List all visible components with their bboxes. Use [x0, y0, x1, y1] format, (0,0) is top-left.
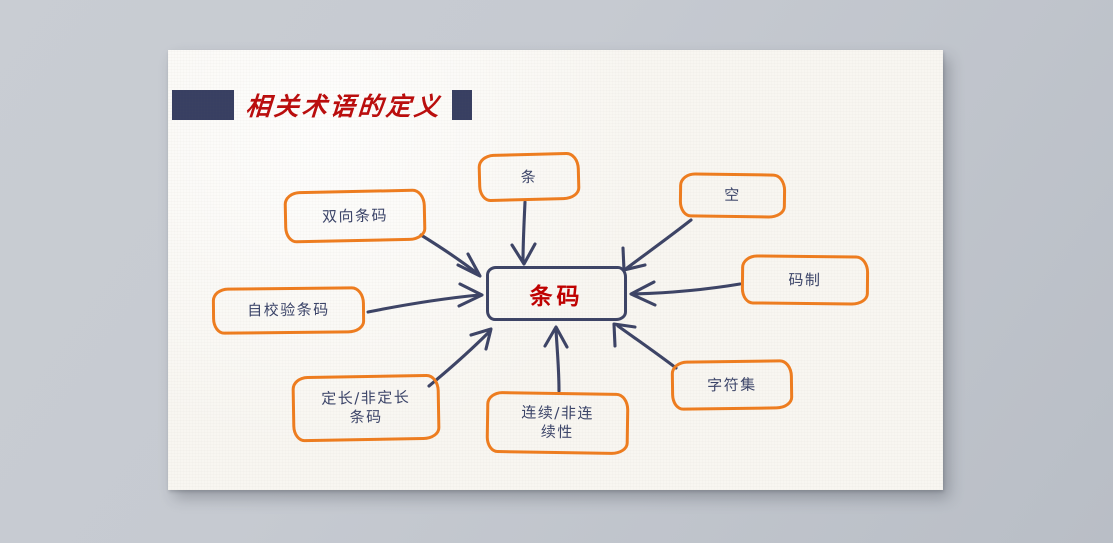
node-label: 空 [724, 186, 741, 205]
arrow-from-space [623, 220, 691, 270]
node-label: 双向条码 [322, 206, 388, 226]
mindmap-node-continuity[interactable]: 连续/非连 续性 [486, 391, 630, 455]
arrow-from-bar [512, 202, 535, 264]
mindmap-node-length[interactable]: 定长/非定长 条码 [291, 374, 440, 443]
node-label: 定长/非定长 条码 [321, 388, 411, 427]
node-label: 字符集 [707, 375, 757, 394]
mindmap-center-node[interactable]: 条码 [486, 266, 627, 321]
arrow-from-continuity [545, 327, 567, 391]
screenshot-stage: 相关术语的定义 [0, 0, 1113, 543]
node-label: 码制 [788, 270, 821, 289]
mindmap-node-charset[interactable]: 字符集 [671, 359, 794, 411]
arrow-from-bidirectional [421, 235, 480, 276]
arrow-from-selfcheck [368, 284, 482, 312]
center-node-label: 条码 [530, 277, 584, 311]
mindmap-node-space[interactable]: 空 [679, 172, 787, 218]
mindmap-node-symbology[interactable]: 码制 [741, 254, 870, 305]
node-label: 自校验条码 [247, 301, 330, 321]
arrow-from-symbology [631, 282, 740, 305]
mindmap-node-bidirectional[interactable]: 双向条码 [283, 189, 426, 244]
slide-title-row: 相关术语的定义 [172, 89, 472, 121]
mindmap-node-bar[interactable]: 条 [477, 152, 580, 203]
arrow-from-length [429, 329, 491, 386]
node-label: 连续/非连 续性 [521, 404, 594, 443]
presentation-slide: 相关术语的定义 [168, 50, 943, 490]
node-label: 条 [520, 167, 537, 186]
title-accent-block-left [172, 90, 234, 120]
arrow-from-charset [614, 324, 676, 368]
mindmap-node-selfcheck[interactable]: 自校验条码 [212, 286, 365, 335]
title-accent-block-right [452, 90, 472, 120]
page-title: 相关术语的定义 [233, 87, 454, 123]
